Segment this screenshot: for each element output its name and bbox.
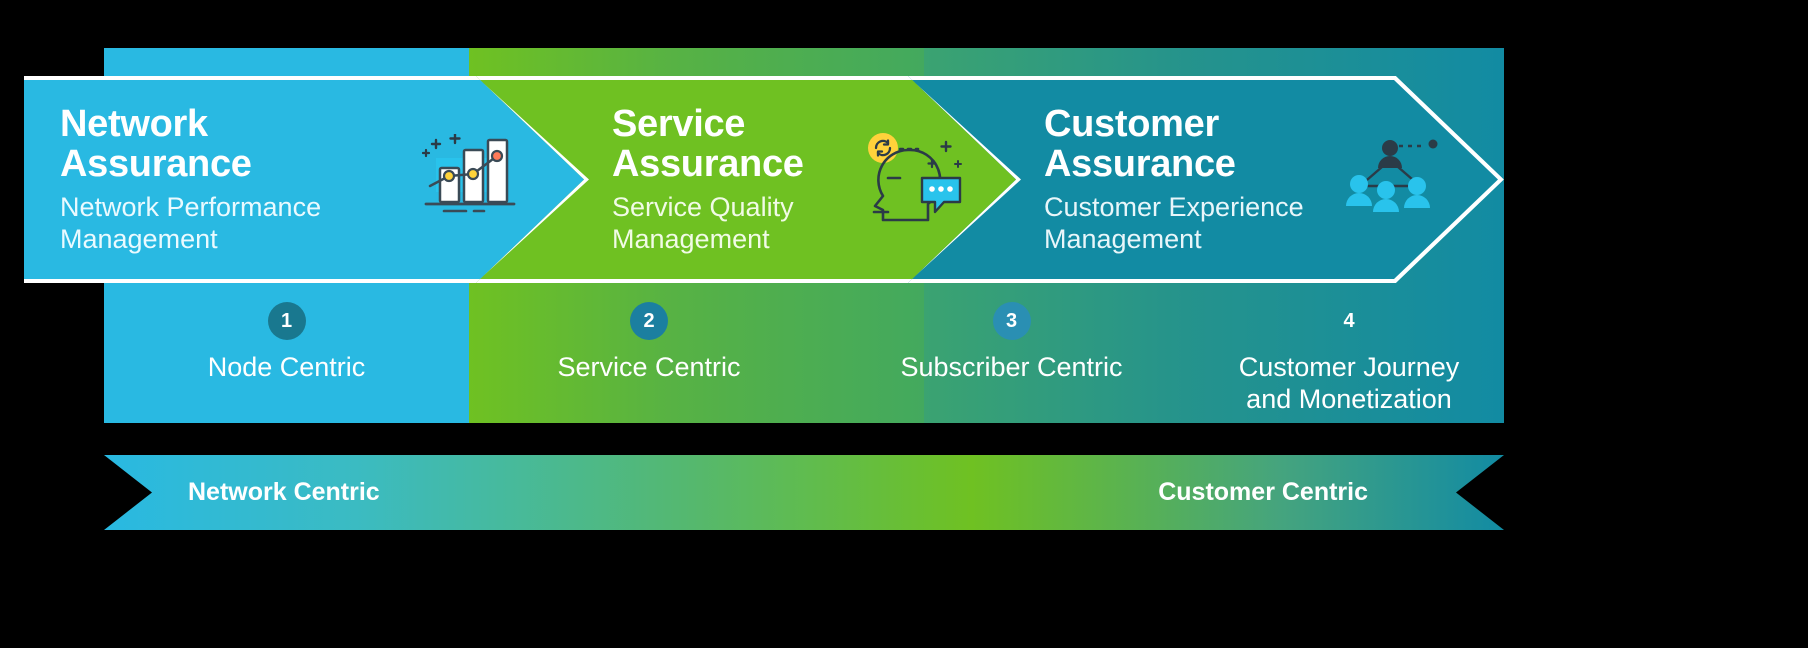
chevron-text-block: Network Assurance Network Performance Ma… <box>60 104 321 255</box>
chevron-subtitle: Service Quality Management <box>612 192 804 255</box>
chevron-subtitle: Network Performance Management <box>60 192 321 255</box>
stage-badge-1: 1 <box>268 302 306 340</box>
stage-column-2[interactable]: 2 Service Centric <box>469 292 829 423</box>
stage-caption-1: Node Centric <box>208 352 366 384</box>
chevron-row: Network Assurance Network Performance Ma… <box>24 76 1504 283</box>
chevron-title: Service Assurance <box>612 104 804 185</box>
bar-chart-icon <box>422 134 518 229</box>
head-chat-refresh-icon <box>866 128 970 237</box>
stage-column-1[interactable]: 1 Node Centric <box>104 292 469 423</box>
stage-caption-2: Service Centric <box>557 352 740 384</box>
stage-column-3[interactable]: 3 Subscriber Centric <box>829 292 1194 423</box>
stage-caption-4: Customer Journey and Monetization <box>1239 352 1460 416</box>
people-network-icon <box>1338 134 1442 231</box>
stage-badge-2: 2 <box>630 302 668 340</box>
chevron-text-block: Customer Assurance Customer Experience M… <box>1044 104 1304 255</box>
stage-caption-3: Subscriber Centric <box>900 352 1122 384</box>
chevron-text-block: Service Assurance Service Quality Manage… <box>612 104 804 255</box>
chevron-title: Customer Assurance <box>1044 104 1304 185</box>
chevron-subtitle: Customer Experience Management <box>1044 192 1304 255</box>
diagram-canvas: Network Assurance Network Performance Ma… <box>0 0 1808 648</box>
continuum-ribbon: Network Centric Customer Centric <box>104 455 1504 530</box>
stage-column-4[interactable]: 4 Customer Journey and Monetization <box>1194 292 1504 423</box>
ribbon-left-label: Network Centric <box>188 478 380 507</box>
ribbon-right-label: Customer Centric <box>1158 478 1368 507</box>
stage-badge-4: 4 <box>1330 302 1368 340</box>
stage-badge-3: 3 <box>993 302 1031 340</box>
stage-labels-row: 1 Node Centric 2 Service Centric 3 Subsc… <box>104 292 1504 423</box>
chevron-title: Network Assurance <box>60 104 321 185</box>
